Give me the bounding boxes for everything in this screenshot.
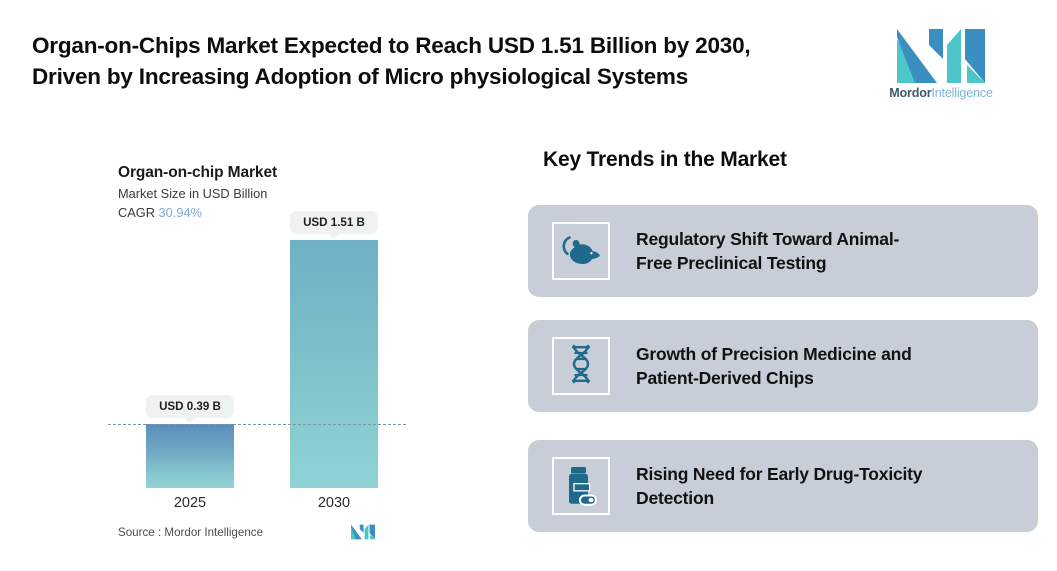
header: Organ-on-Chips Market Expected to Reach … (0, 0, 1057, 120)
trend-icon-box-1 (552, 222, 610, 280)
trend-card-2-text: Growth of Precision Medicine and Patient… (636, 342, 1022, 390)
mouse-icon (561, 233, 601, 269)
source-label: Source : (118, 526, 161, 539)
chart-panel: Organ-on-chip Market Market Size in USD … (0, 120, 500, 571)
brand-logo: MordorIntelligence (881, 29, 1001, 104)
x-axis-label-2030: 2030 (284, 494, 384, 512)
mordor-m-logo-icon (897, 29, 985, 83)
page-title-line-2: Driven by Increasing Adoption of Micro p… (32, 61, 862, 92)
trend-card-1-line-2: Free Preclinical Testing (636, 251, 1022, 275)
trend-card-3[interactable]: Rising Need for Early Drug-Toxicity Dete… (528, 440, 1038, 532)
trend-card-1-text: Regulatory Shift Toward Animal- Free Pre… (636, 227, 1022, 275)
mordor-m-mark-icon (351, 523, 375, 541)
bar-2025[interactable] (146, 424, 234, 488)
bar-2030[interactable] (290, 240, 378, 488)
page-title: Organ-on-Chips Market Expected to Reach … (32, 30, 862, 92)
trend-card-2[interactable]: Growth of Precision Medicine and Patient… (528, 320, 1038, 412)
infographic-page: Organ-on-Chips Market Expected to Reach … (0, 0, 1057, 571)
trend-card-2-line-2: Patient-Derived Chips (636, 366, 1022, 390)
chart-source: Source : Mordor Intelligence (118, 526, 263, 539)
reference-line (108, 424, 406, 425)
trend-card-3-line-2: Detection (636, 486, 1022, 510)
trend-card-3-text: Rising Need for Early Drug-Toxicity Dete… (636, 462, 1022, 510)
brand-name-light: Intelligence (931, 86, 992, 100)
source-value: Mordor Intelligence (164, 526, 263, 539)
page-title-line-1: Organ-on-Chips Market Expected to Reach … (32, 30, 862, 61)
trend-icon-box-2 (552, 337, 610, 395)
value-label-2025: USD 0.39 B (146, 395, 234, 418)
value-label-2030: USD 1.51 B (290, 211, 378, 234)
trend-card-1[interactable]: Regulatory Shift Toward Animal- Free Pre… (528, 205, 1038, 297)
trends-heading: Key Trends in the Market (543, 148, 787, 172)
bar-chart-plot: USD 0.39 B2025USD 1.51 B2030 (0, 120, 500, 571)
brand-name-bold: Mordor (889, 86, 931, 100)
trend-card-1-line-1: Regulatory Shift Toward Animal- (636, 227, 1022, 251)
trends-panel: Key Trends in the Market Regulatory Shif… (500, 120, 1057, 571)
trend-card-2-line-1: Growth of Precision Medicine and (636, 342, 1022, 366)
brand-wordmark: MordorIntelligence (881, 86, 1001, 101)
x-axis-label-2025: 2025 (140, 494, 240, 512)
dna-helix-icon (566, 344, 596, 388)
pill-bottle-icon (562, 465, 600, 507)
trend-icon-box-3 (552, 457, 610, 515)
trend-card-3-line-1: Rising Need for Early Drug-Toxicity (636, 462, 1022, 486)
